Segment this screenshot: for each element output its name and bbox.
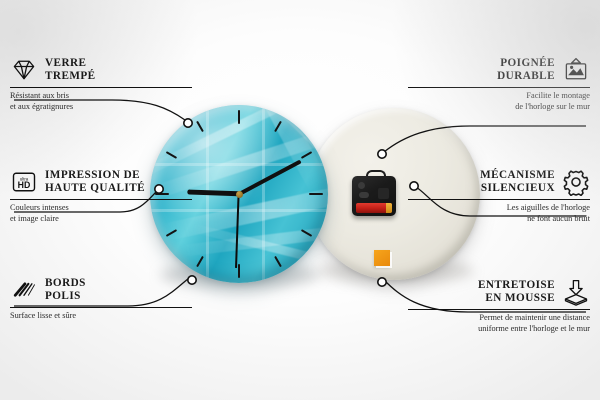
feature-title: IMPRESSION DE HAUTE QUALITÉ bbox=[45, 169, 145, 194]
feature-verre-trempe: VERRE TREMPÉ Résistant aux bris et aux é… bbox=[10, 56, 192, 112]
hand-center-cap bbox=[236, 191, 243, 198]
foam-spacer-icon bbox=[562, 278, 590, 306]
feature-desc-line2: uniforme entre l'horloge et le mur bbox=[408, 324, 590, 334]
divider bbox=[408, 87, 590, 88]
clock-mechanism bbox=[352, 172, 396, 216]
feature-poignee-durable: POIGNÉE DURABLE Facilite le montage de l… bbox=[408, 56, 590, 112]
feature-desc-line2: et aux égratignures bbox=[10, 102, 192, 112]
callout-marker-mecanisme bbox=[410, 182, 418, 190]
divider bbox=[10, 307, 192, 308]
feature-desc-line1: Facilite le montage bbox=[408, 91, 590, 101]
feature-title: ENTRETOISE EN MOUSSE bbox=[478, 279, 555, 304]
feature-mecanisme-silencieux: MÉCANISME SILENCIEUX Les aiguilles de l'… bbox=[408, 168, 590, 224]
divider bbox=[408, 199, 590, 200]
feature-header: ENTRETOISE EN MOUSSE bbox=[408, 278, 590, 306]
feature-desc-line2: et image claire bbox=[10, 214, 192, 224]
divider bbox=[408, 309, 590, 310]
callout-line-poignee bbox=[384, 126, 586, 152]
feature-header: MÉCANISME SILENCIEUX bbox=[408, 168, 590, 196]
feature-desc-line1: Couleurs intenses bbox=[10, 203, 192, 213]
gear-icon bbox=[562, 168, 590, 196]
feature-title: VERRE TREMPÉ bbox=[45, 57, 96, 82]
battery bbox=[356, 203, 392, 213]
feature-desc-line1: Résistant aux bris bbox=[10, 91, 192, 101]
feature-title: MÉCANISME SILENCIEUX bbox=[480, 169, 555, 194]
feature-header: ultra HD IMPRESSION DE HAUTE QUALITÉ bbox=[10, 168, 192, 196]
feature-header: VERRE TREMPÉ bbox=[10, 56, 192, 84]
feature-header: BORDS POLIS bbox=[10, 276, 192, 304]
infographic-canvas: VERRE TREMPÉ Résistant aux bris et aux é… bbox=[0, 0, 600, 400]
polished-edges-icon bbox=[10, 276, 38, 304]
battery-terminal bbox=[386, 203, 392, 213]
svg-text:HD: HD bbox=[18, 180, 31, 190]
feature-desc-line1: Permet de maintenir une distance bbox=[408, 313, 590, 323]
hour-tick bbox=[238, 110, 240, 194]
foam-spacer bbox=[374, 250, 390, 266]
feature-impression-haute-qualite: ultra HD IMPRESSION DE HAUTE QUALITÉ Cou… bbox=[10, 168, 192, 224]
divider bbox=[10, 87, 192, 88]
ultra-hd-icon: ultra HD bbox=[10, 168, 38, 196]
clock-back-body bbox=[308, 108, 480, 280]
feature-desc-line2: ne font aucun bruit bbox=[408, 214, 590, 224]
back-body-edge bbox=[308, 108, 480, 280]
feature-title: BORDS POLIS bbox=[45, 277, 86, 302]
mechanism-housing bbox=[352, 176, 396, 216]
feature-entretoise-en-mousse: ENTRETOISE EN MOUSSE Permet de maintenir… bbox=[408, 278, 590, 334]
feature-desc-line2: de l'horloge sur le mur bbox=[408, 102, 590, 112]
mechanism-detail-slot bbox=[359, 192, 369, 198]
feature-desc-line1: Les aiguilles de l'horloge bbox=[408, 203, 590, 213]
feature-desc-line1: Surface lisse et sûre bbox=[10, 311, 192, 321]
mechanism-shaft bbox=[378, 188, 389, 199]
divider bbox=[10, 199, 192, 200]
feature-title: POIGNÉE DURABLE bbox=[497, 57, 555, 82]
feature-header: POIGNÉE DURABLE bbox=[408, 56, 590, 84]
picture-hanger-icon bbox=[562, 56, 590, 84]
diamond-icon bbox=[10, 56, 38, 84]
feature-bords-polis: BORDS POLIS Surface lisse et sûre bbox=[10, 276, 192, 322]
hour-tick bbox=[239, 193, 323, 195]
mechanism-detail-dot bbox=[358, 182, 365, 189]
